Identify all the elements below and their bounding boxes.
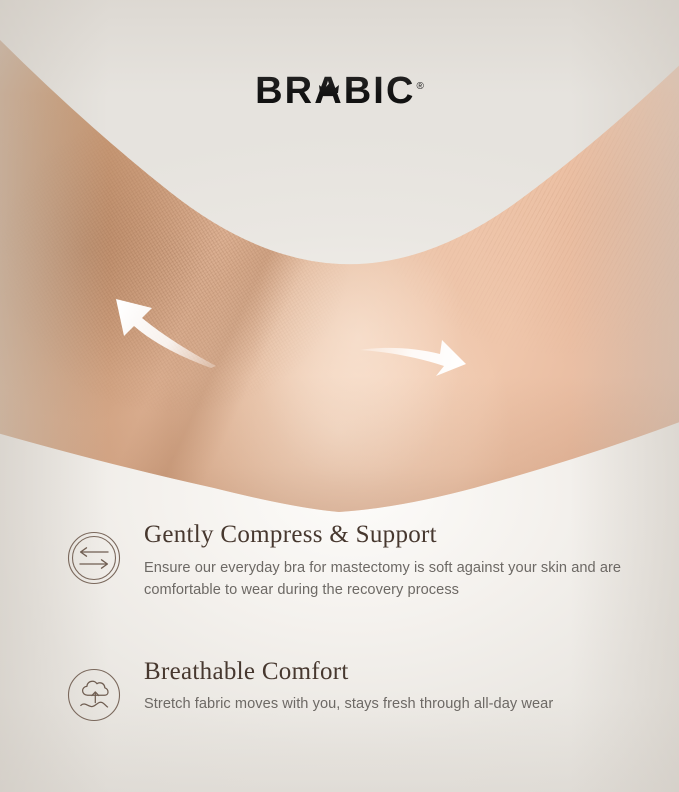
feature-list: Gently Compress & Support Ensure our eve…	[0, 520, 679, 723]
feature-item-compress: Gently Compress & Support Ensure our eve…	[0, 520, 679, 601]
feature-text-breathable: Breathable Comfort Stretch fabric moves …	[144, 657, 645, 716]
feature-title: Gently Compress & Support	[144, 520, 645, 550]
feature-description: Stretch fabric moves with you, stays fre…	[144, 693, 645, 715]
feature-description: Ensure our everyday bra for mastectomy i…	[144, 557, 645, 601]
product-feature-page: BR ABIC®	[0, 0, 679, 792]
breathable-cloud-circle-icon	[66, 667, 122, 723]
feature-text-compress: Gently Compress & Support Ensure our eve…	[144, 520, 645, 601]
feature-title: Breathable Comfort	[144, 657, 645, 687]
compress-arrows-circle-icon	[66, 530, 122, 586]
feature-item-breathable: Breathable Comfort Stretch fabric moves …	[0, 657, 679, 723]
